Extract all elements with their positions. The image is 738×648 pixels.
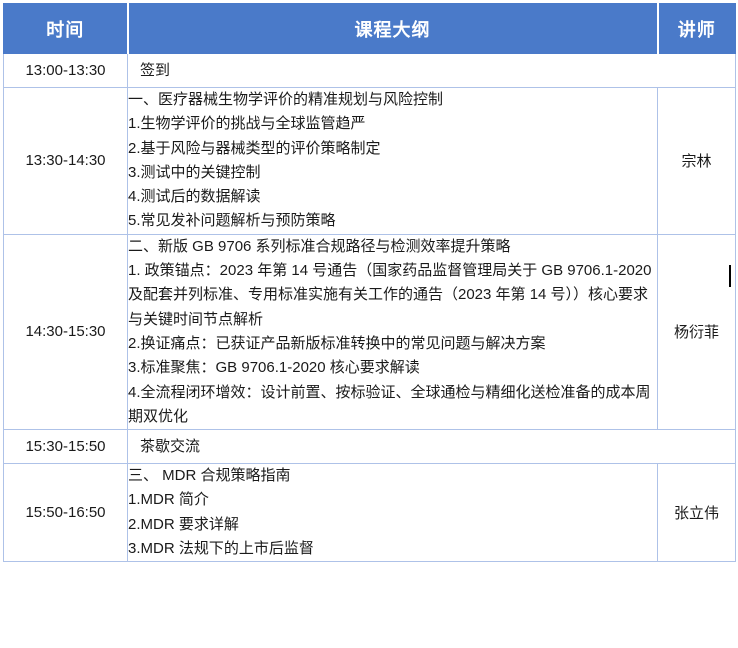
topic-line: 3.测试中的关键控制	[128, 161, 657, 185]
cell-time: 14:30-15:30	[4, 234, 128, 429]
topic-line: 2.换证痛点：已获证产品新版标准转换中的常见问题与解决方案	[128, 332, 657, 356]
cell-topic: 三、 MDR 合规策略指南1.MDR 简介2.MDR 要求详解3.MDR 法规下…	[128, 464, 658, 562]
table-row: 15:30-15:50茶歇交流	[4, 430, 736, 464]
topic-line: 3.MDR 法规下的上市后监督	[128, 537, 657, 561]
topic-line: 三、 MDR 合规策略指南	[128, 464, 657, 488]
header-row: 时间 课程大纲 讲师	[4, 4, 736, 54]
cell-topic: 茶歇交流	[128, 430, 736, 464]
cell-speaker: 杨衍菲	[658, 234, 736, 429]
column-header-time: 时间	[4, 4, 128, 54]
table-body: 13:00-13:30签到13:30-14:30一、医疗器械生物学评价的精准规划…	[4, 54, 736, 562]
topic-line: 3.标准聚焦：GB 9706.1-2020 核心要求解读	[128, 356, 657, 380]
cell-time: 13:30-14:30	[4, 88, 128, 235]
topic-line: 一、医疗器械生物学评价的精准规划与风险控制	[128, 88, 657, 112]
topic-line: 4.测试后的数据解读	[128, 185, 657, 209]
cell-topic: 签到	[128, 54, 736, 88]
table-header: 时间 课程大纲 讲师	[4, 4, 736, 54]
topic-line: 1.MDR 简介	[128, 488, 657, 512]
column-header-topic: 课程大纲	[128, 4, 658, 54]
cell-time: 15:50-16:50	[4, 464, 128, 562]
topic-line: 4.全流程闭环增效：设计前置、按标验证、全球通检与精细化送检准备的成本周期双优化	[128, 381, 657, 430]
column-header-speaker: 讲师	[658, 4, 736, 54]
topic-line: 2.基于风险与器械类型的评价策略制定	[128, 137, 657, 161]
cell-speaker: 张立伟	[658, 464, 736, 562]
cell-topic: 二、新版 GB 9706 系列标准合规路径与检测效率提升策略1. 政策锚点：20…	[128, 234, 658, 429]
topic-line: 5.常见发补问题解析与预防策略	[128, 209, 657, 233]
topic-line: 签到	[140, 60, 725, 81]
topic-line: 茶歇交流	[140, 436, 725, 457]
course-agenda-table: 时间 课程大纲 讲师 13:00-13:30签到13:30-14:30一、医疗器…	[3, 3, 736, 562]
cell-time: 13:00-13:30	[4, 54, 128, 88]
cell-topic: 一、医疗器械生物学评价的精准规划与风险控制1.生物学评价的挑战与全球监管趋严2.…	[128, 88, 658, 235]
topic-line: 2.MDR 要求详解	[128, 513, 657, 537]
topic-line: 1.生物学评价的挑战与全球监管趋严	[128, 112, 657, 136]
cell-speaker: 宗林	[658, 88, 736, 235]
table-row: 13:30-14:30一、医疗器械生物学评价的精准规划与风险控制1.生物学评价的…	[4, 88, 736, 235]
table-row: 14:30-15:30二、新版 GB 9706 系列标准合规路径与检测效率提升策…	[4, 234, 736, 429]
topic-line: 1. 政策锚点：2023 年第 14 号通告（国家药品监督管理局关于 GB 97…	[128, 259, 657, 332]
table-row: 15:50-16:50三、 MDR 合规策略指南1.MDR 简介2.MDR 要求…	[4, 464, 736, 562]
agenda-table-container: 时间 课程大纲 讲师 13:00-13:30签到13:30-14:30一、医疗器…	[0, 3, 738, 648]
text-caret	[729, 265, 731, 287]
topic-line: 二、新版 GB 9706 系列标准合规路径与检测效率提升策略	[128, 235, 657, 259]
table-row: 13:00-13:30签到	[4, 54, 736, 88]
cell-time: 15:30-15:50	[4, 430, 128, 464]
